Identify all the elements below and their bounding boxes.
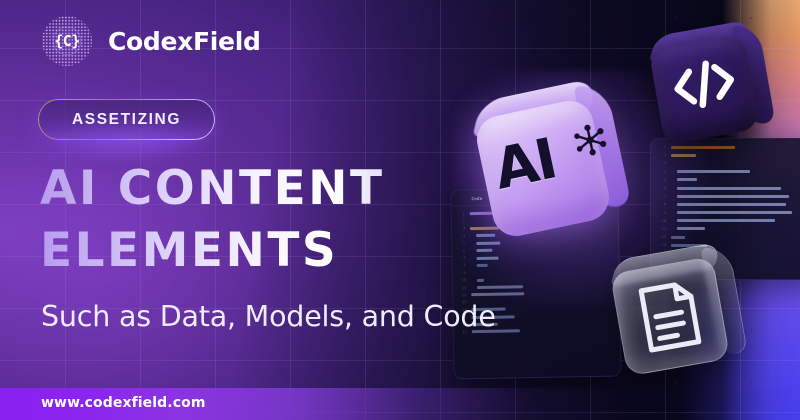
headline: AI CONTENT ELEMENTS (40, 158, 470, 282)
brand-name: CodexField (108, 27, 261, 56)
ai-cube-label: AI (490, 132, 561, 199)
code-cube (639, 18, 786, 158)
badge-label: ASSETIZING (72, 111, 181, 129)
headline-line-1: AI CONTENT (40, 158, 470, 220)
logo-glyph: {C} (54, 32, 80, 50)
assetizing-badge[interactable]: ASSETIZING (38, 99, 215, 140)
brand-header: {C} CodexField (42, 16, 261, 66)
logo-icon[interactable]: {C} (42, 16, 92, 66)
document-file-icon (628, 273, 712, 360)
subtitle: Such as Data, Models, and Code (41, 300, 496, 333)
headline-line-2: ELEMENTS (40, 220, 470, 282)
badge-wrapper: ASSETIZING (38, 99, 215, 140)
ai-cube: AI (455, 73, 645, 263)
code-brackets-icon (664, 48, 744, 121)
footer-url[interactable]: www.codexfield.com (41, 395, 206, 411)
promo-banner: Code Diagram 1234567891011121314151617 1… (0, 0, 800, 420)
sparkle-node-icon (570, 120, 610, 160)
document-cube (598, 236, 769, 394)
